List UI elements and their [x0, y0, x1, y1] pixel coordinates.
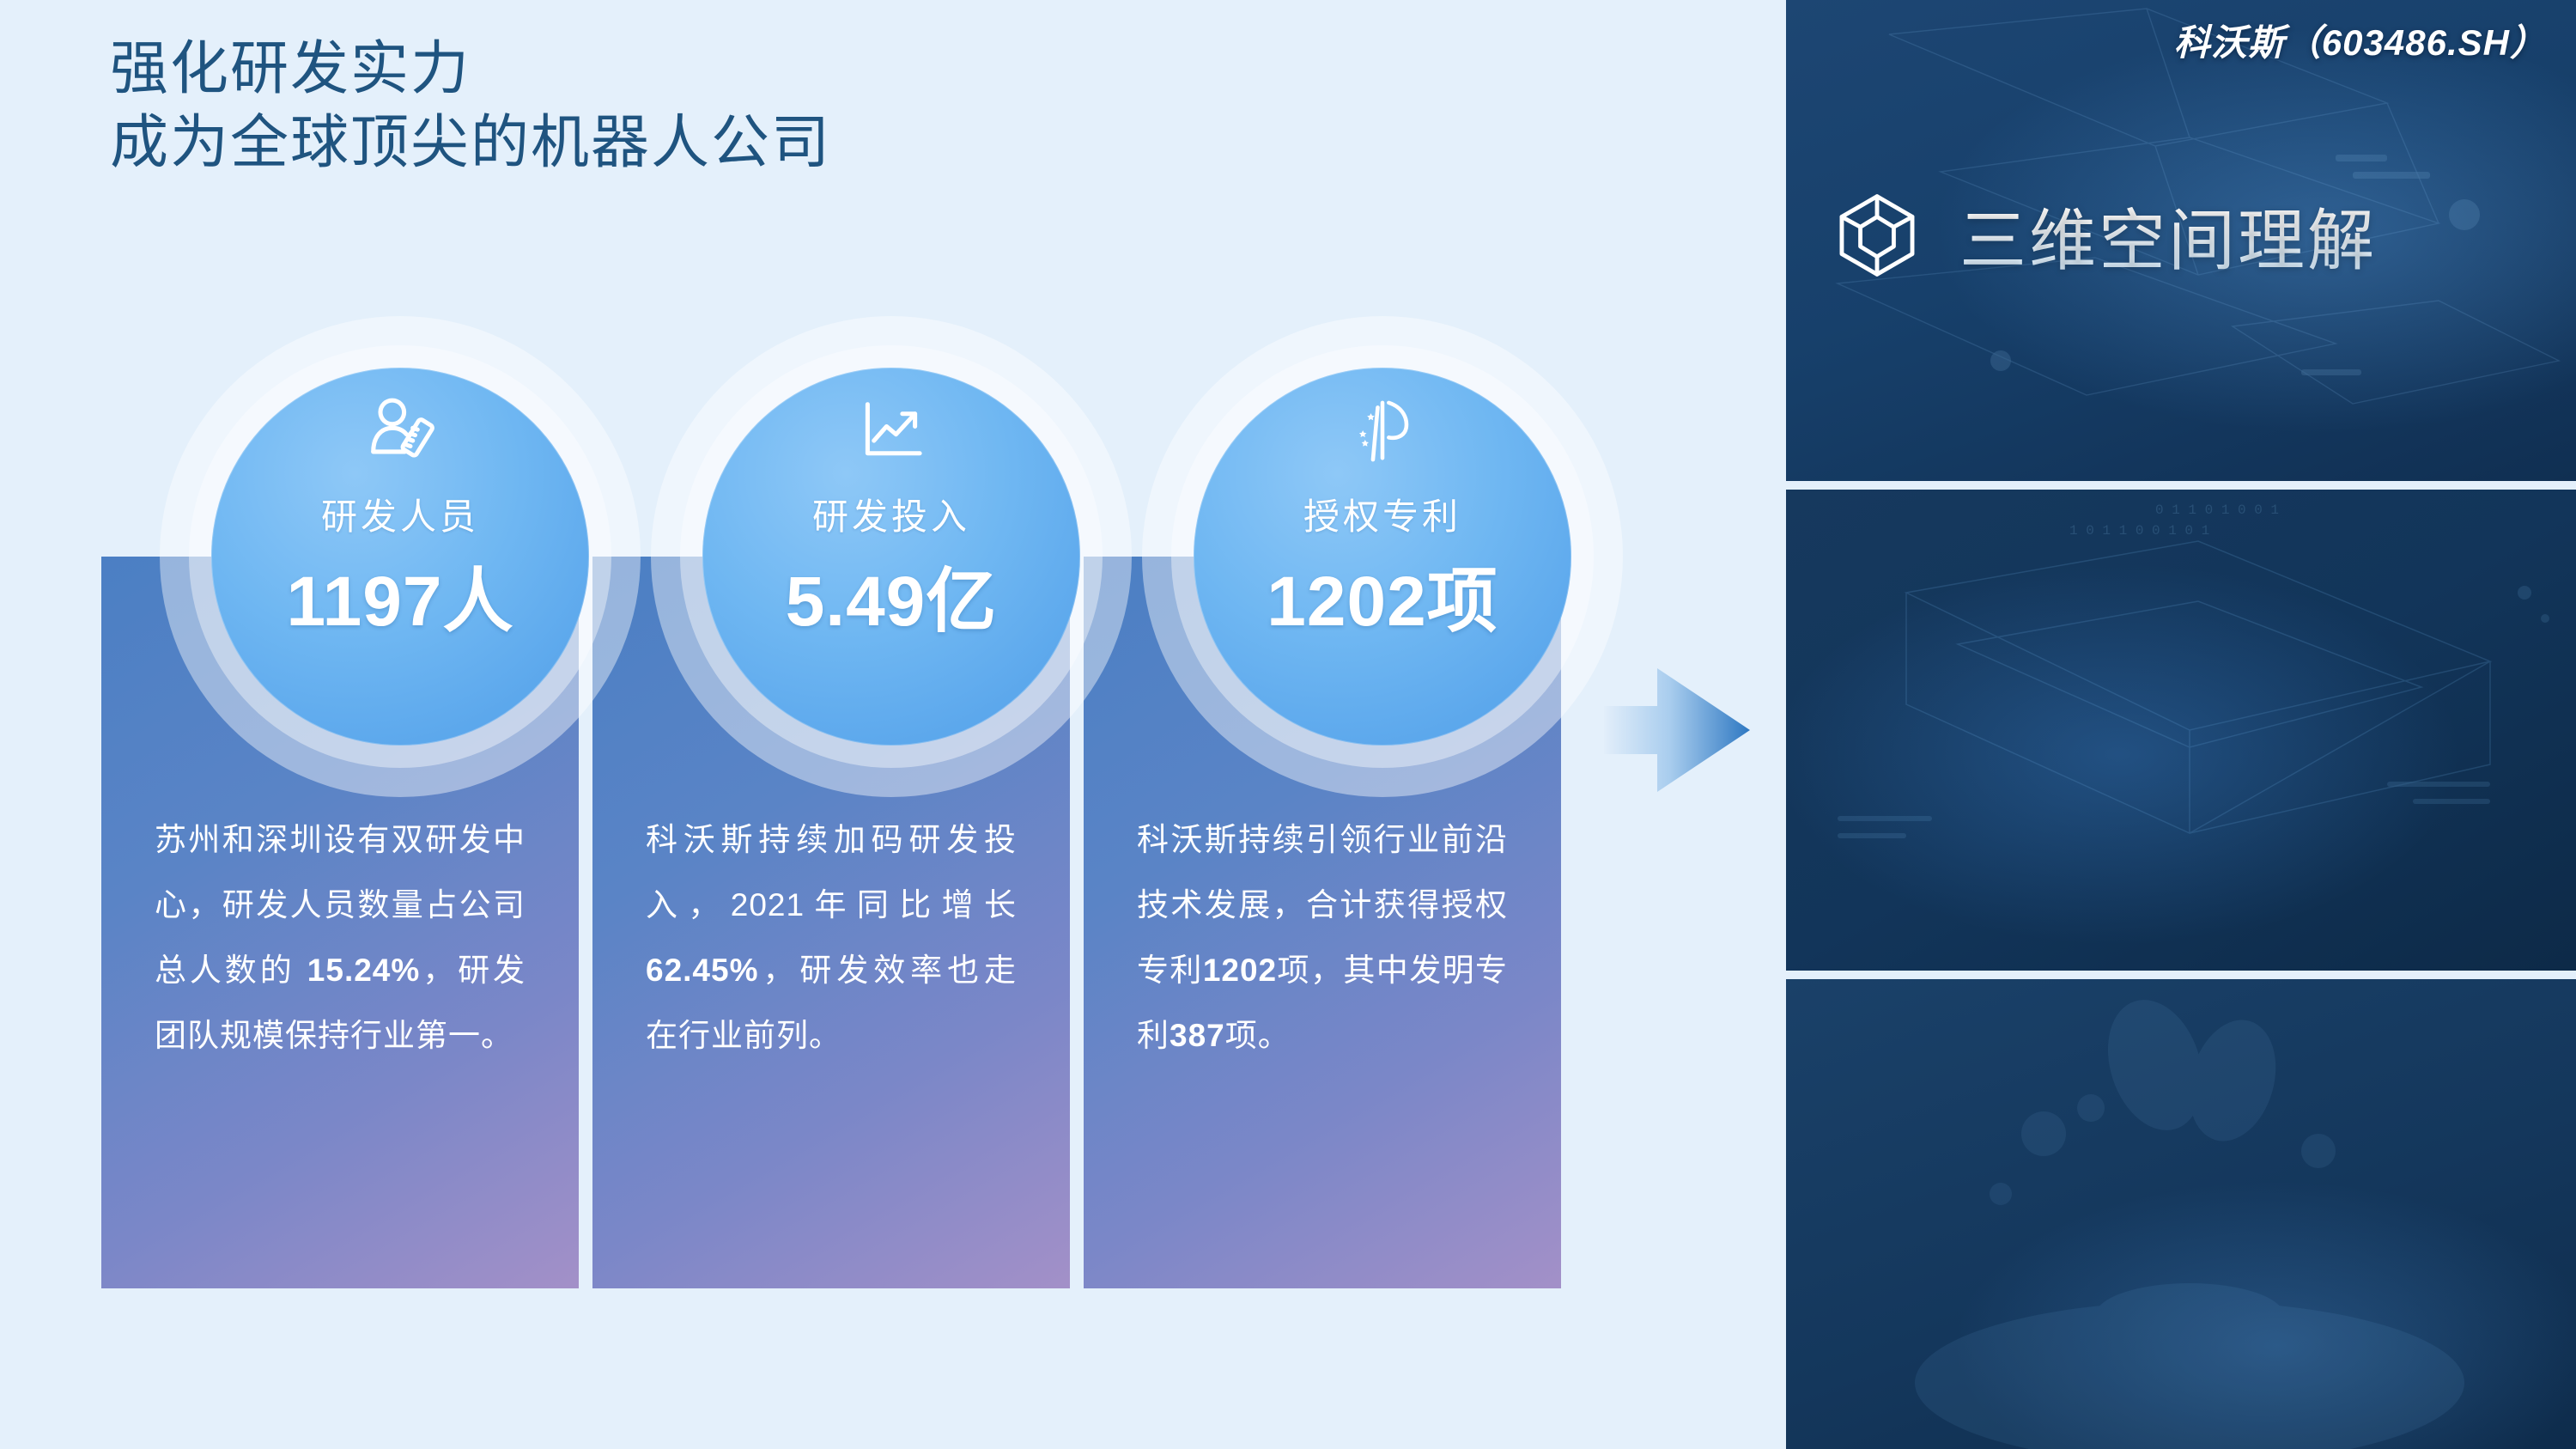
person-ruler-icon [361, 392, 440, 471]
stat-card-rd-investment[interactable]: 科沃斯持续加码研发投入，2021年同比增长62.45%，研发效率也走在行业前列。 [592, 557, 1070, 1288]
panel-divider [1786, 481, 2576, 490]
cube-3d-icon [1831, 189, 1923, 282]
body-text-highlight: 1202 [1203, 953, 1277, 988]
body-text-prefix: 科沃斯持续加码研发投入，2021年同比增长 [646, 822, 1017, 922]
body-text-highlight: 62.45% [646, 953, 759, 988]
body-text-suffix: 项。 [1225, 1018, 1291, 1053]
left-panel: 强化研发实力 成为全球顶尖的机器人公司 苏州和深圳设有双研发中心，研发人员数量占… [0, 0, 1786, 1449]
body-text-highlight-2: 387 [1170, 1018, 1225, 1053]
circle-label: 研发投入 [812, 488, 970, 540]
stat-card-body: 科沃斯持续引领行业前沿技术发展，合计获得授权专利1202项，其中发明专利387项… [1137, 807, 1508, 1068]
stat-card-body: 苏州和深圳设有双研发中心，研发人员数量占公司总人数的 15.24%，研发团队规模… [155, 807, 526, 1068]
stat-card-rd-staff[interactable]: 苏州和深圳设有双研发中心，研发人员数量占公司总人数的 15.24%，研发团队规模… [101, 557, 579, 1288]
page-title: 强化研发实力 成为全球顶尖的机器人公司 [110, 33, 831, 180]
company-ticker-label: 科沃斯（603486.SH） [2174, 14, 2547, 66]
stat-card-body: 科沃斯持续加码研发投入，2021年同比增长62.45%，研发效率也走在行业前列。 [646, 807, 1017, 1068]
circle-label: 研发人员 [321, 488, 479, 540]
patent-ip-icon [1343, 392, 1422, 471]
panel-divider [1786, 971, 2576, 979]
svg-text:0 1 1 0 1 0 0 1: 0 1 1 0 1 0 0 1 [2155, 502, 2279, 518]
circle-label: 授权专利 [1303, 488, 1461, 540]
body-text-highlight: 15.24% [307, 953, 421, 988]
chart-trend-up-icon [852, 392, 931, 471]
panel-section-ai-compute[interactable]: 1 0 1 1 0 0 1 0 1 0 1 1 0 1 0 0 1 AI [1786, 490, 2576, 971]
panel-section-3d-space[interactable]: 三维空间理解 [1786, 0, 2576, 481]
svg-text:1 0 1 1 0 0 1 0 1: 1 0 1 1 0 0 1 0 1 [2069, 523, 2209, 539]
stat-card-patents[interactable]: 科沃斯持续引领行业前沿技术发展，合计获得授权专利1202项，其中发明专利387项… [1084, 557, 1561, 1288]
robot-texture-decoration [1786, 979, 2576, 1449]
right-panel: 三维空间理解 1 0 1 1 0 0 1 0 1 0 1 1 0 1 0 0 1 [1786, 0, 2576, 1449]
stat-cards-row: 苏州和深圳设有双研发中心，研发人员数量占公司总人数的 15.24%，研发团队规模… [101, 557, 1561, 1288]
panel-label-3d-space: 三维空间理解 [1959, 187, 2377, 283]
circuit-texture-decoration: 1 0 1 1 0 0 1 0 1 0 1 1 0 1 0 0 1 [1786, 490, 2576, 971]
panel-row-3d-space[interactable]: 三维空间理解 [1831, 187, 2377, 283]
right-arrow-icon [1604, 661, 1750, 799]
panel-section-interaction[interactable]: 交互 [1786, 979, 2576, 1449]
